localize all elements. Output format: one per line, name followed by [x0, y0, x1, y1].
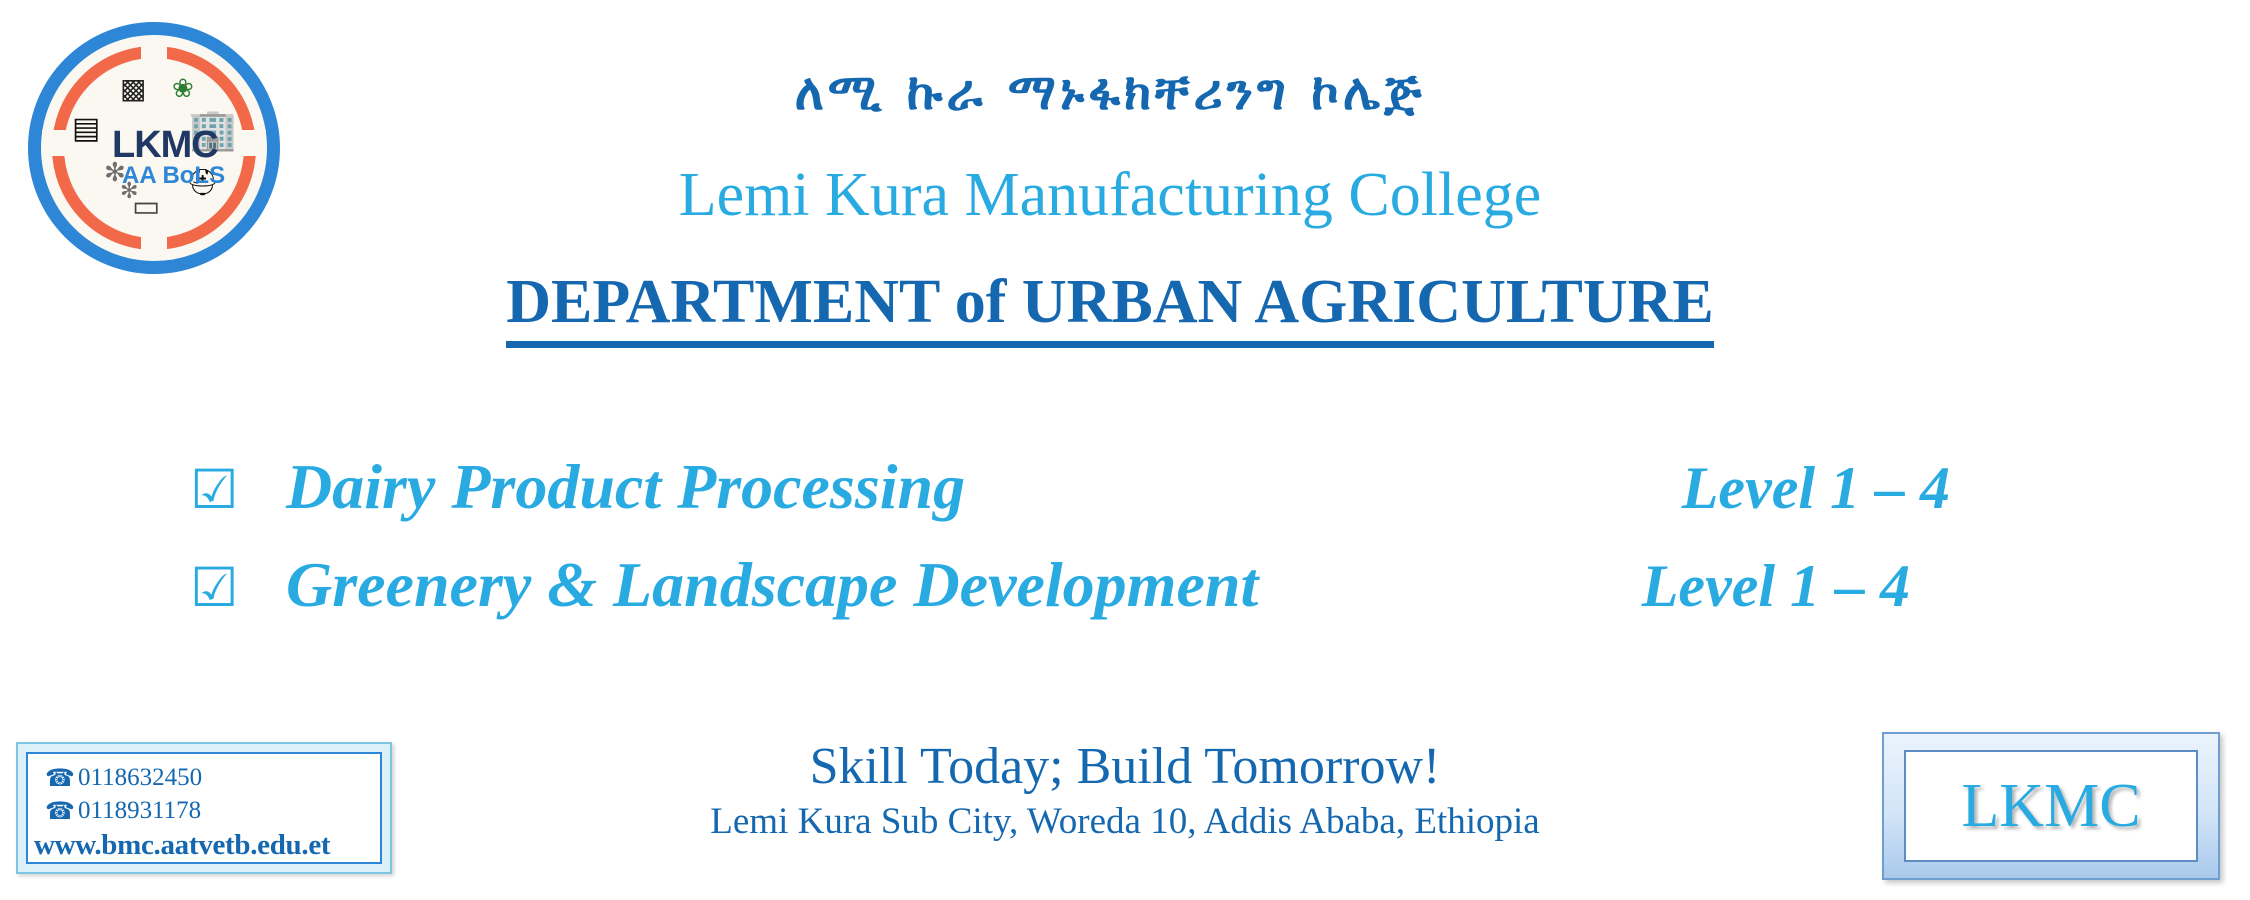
phone-icon: ☎	[42, 796, 78, 826]
contact-phone-row-2: ☎ 0118931178	[42, 795, 376, 826]
amharic-college-title: ለሚ ኩራ ማኑፋክቸሪንግ ኮሌጅ	[300, 62, 1920, 122]
lkmc-badge-label: LKMC	[1961, 775, 2140, 837]
program-name: Greenery & Landscape Development	[286, 548, 1516, 622]
sewing-machine-icon: ▤	[72, 114, 100, 144]
contact-box: ☎ 0118632450 ☎ 0118931178 www.bmc.aatvet…	[16, 742, 392, 874]
list-item: ☑ Dairy Product Processing Level 1 – 4	[190, 450, 2090, 548]
checkbox-checked-icon: ☑	[190, 463, 286, 517]
english-college-title: Lemi Kura Manufacturing College	[300, 160, 1920, 231]
list-item: ☑ Greenery & Landscape Development Level…	[190, 548, 2090, 646]
flower-icon: ❀	[172, 76, 194, 102]
logo-acronym: LKMC	[112, 126, 218, 164]
tagline-text: Skill Today; Build Tomorrow!	[430, 738, 1820, 795]
program-name: Dairy Product Processing	[286, 450, 1516, 524]
address-text: Lemi Kura Sub City, Woreda 10, Addis Aba…	[430, 799, 1820, 845]
department-title: DEPARTMENT of URBAN AGRICULTURE	[300, 268, 1920, 348]
program-level: Level 1 – 4	[1516, 552, 2090, 621]
phone-number-secondary: 0118931178	[78, 795, 201, 826]
microchip-icon: ▩	[120, 76, 146, 104]
department-title-text: DEPARTMENT of URBAN AGRICULTURE	[506, 268, 1714, 348]
logo-subtitle: AA BoLS	[122, 164, 225, 188]
footer-tagline-block: Skill Today; Build Tomorrow! Lemi Kura S…	[430, 738, 1820, 845]
lkmc-badge: LKMC	[1882, 732, 2220, 880]
program-list: ☑ Dairy Product Processing Level 1 – 4 ☑…	[190, 450, 2090, 646]
poster-canvas: ▩ ❀ ▤ 🏢 ✻ ✻ ⛑ ▭ LKMC AA BoLS ለሚ ኩራ ማኑፋክቸ…	[0, 0, 2250, 900]
college-logo: ▩ ❀ ▤ 🏢 ✻ ✻ ⛑ ▭ LKMC AA BoLS	[28, 22, 280, 274]
program-level: Level 1 – 4	[1516, 454, 2090, 523]
checkbox-checked-icon: ☑	[190, 561, 286, 615]
website-link[interactable]: www.bmc.aatvetb.edu.et	[34, 829, 376, 862]
contact-box-inner: ☎ 0118632450 ☎ 0118931178 www.bmc.aatvet…	[26, 752, 382, 864]
phone-icon: ☎	[42, 763, 78, 793]
car-icon: ▭	[132, 192, 160, 222]
logo-face: ▩ ❀ ▤ 🏢 ✻ ✻ ⛑ ▭ LKMC AA BoLS	[68, 62, 240, 234]
contact-phone-row-1: ☎ 0118632450	[42, 762, 376, 793]
phone-number-primary: 0118632450	[78, 762, 202, 793]
lkmc-badge-inner: LKMC	[1904, 750, 2198, 862]
